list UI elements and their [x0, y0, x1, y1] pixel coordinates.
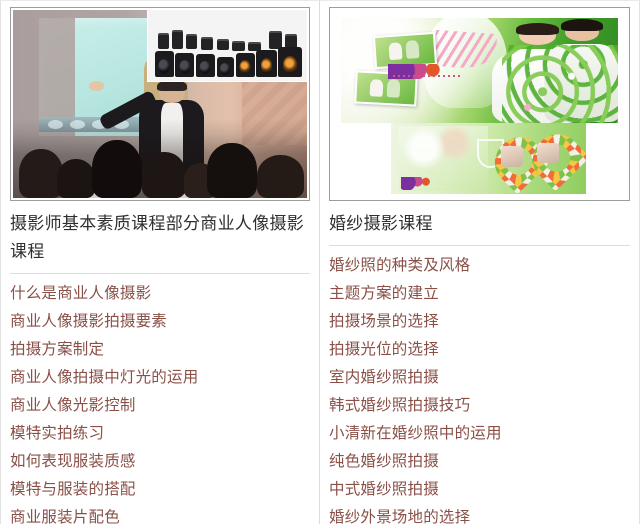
course-thumbnail-frame-left[interactable] [10, 7, 310, 201]
camera-gear-inset-photo [147, 10, 307, 82]
student-head [207, 143, 257, 198]
lesson-item[interactable]: 商业服装片配色 [10, 504, 310, 524]
lesson-item[interactable]: 商业人像拍摄中灯光的运用 [10, 364, 310, 392]
inset-photo-content [375, 34, 435, 67]
camera-lens [201, 37, 214, 50]
camera-body [155, 51, 174, 77]
course-card-board: 摄影师基本素质课程部分商业人像摄影课程 什么是商业人像摄影 商业人像摄影拍摄要素… [0, 0, 640, 524]
lesson-item[interactable]: 婚纱外景场地的选择 [329, 504, 630, 524]
lesson-item[interactable]: 婚纱照的种类及风格 [329, 252, 630, 280]
student-audience [13, 119, 307, 198]
course-thumbnail-frame-right[interactable] [329, 7, 630, 201]
studio-logo-watermark-small [401, 177, 444, 190]
collage-canvas [332, 10, 627, 198]
camera-body [256, 50, 277, 77]
lesson-item[interactable]: 纯色婚纱照拍摄 [329, 448, 630, 476]
camera-lens [186, 34, 197, 48]
heart-inset-photo [537, 143, 559, 164]
camera-lens [172, 30, 183, 49]
lesson-list-wedding-photography: 婚纱照的种类及风格 主题方案的建立 拍摄场景的选择 拍摄光位的选择 室内婚纱照拍… [329, 246, 630, 524]
lesson-item[interactable]: 商业人像摄影拍摄要素 [10, 308, 310, 336]
student-head [57, 159, 95, 198]
inset-groom [406, 41, 420, 60]
camera-body [278, 47, 302, 77]
instructor-hand [89, 81, 104, 90]
camera-lens [232, 41, 245, 51]
studio-logo-watermark [388, 64, 471, 79]
wedding-photo-collage [332, 10, 627, 198]
heart-inset-photo [501, 146, 523, 167]
wedding-bottom-panel [391, 123, 586, 194]
lesson-item[interactable]: 小清新在婚纱照中的运用 [329, 420, 630, 448]
lesson-item[interactable]: 什么是商业人像摄影 [10, 280, 310, 308]
camera-body [196, 54, 215, 77]
flower-foliage [502, 45, 618, 123]
groom-hair [561, 19, 602, 32]
camera-body [217, 57, 234, 77]
camera-body [236, 53, 255, 77]
lesson-item[interactable]: 如何表现服装质感 [10, 448, 310, 476]
camera-lens [269, 31, 282, 48]
lesson-item[interactable]: 韩式婚纱照拍摄技巧 [329, 392, 630, 420]
lesson-item[interactable]: 拍摄场景的选择 [329, 308, 630, 336]
inset-bride [388, 43, 402, 60]
lesson-item[interactable]: 商业人像光影控制 [10, 392, 310, 420]
lesson-item[interactable]: 模特实拍练习 [10, 420, 310, 448]
lesson-item[interactable]: 拍摄光位的选择 [329, 336, 630, 364]
course-title[interactable]: 摄影师基本素质课程部分商业人像摄影课程 [10, 210, 310, 274]
lesson-item[interactable]: 中式婚纱照拍摄 [329, 476, 630, 504]
course-card-commercial-portrait[interactable]: 摄影师基本素质课程部分商业人像摄影课程 什么是商业人像摄影 商业人像摄影拍摄要素… [0, 0, 320, 524]
student-head [142, 152, 186, 198]
course-title[interactable]: 婚纱摄影课程 [329, 210, 630, 246]
heart-photo-frames [492, 134, 578, 181]
lesson-item[interactable]: 主题方案的建立 [329, 280, 630, 308]
camera-lens [217, 39, 230, 50]
wedding-top-panel [341, 18, 618, 123]
student-head [257, 155, 304, 198]
student-head [92, 140, 142, 198]
camera-lens [158, 33, 169, 49]
lesson-list-commercial-portrait: 什么是商业人像摄影 商业人像摄影拍摄要素 拍摄方案制定 商业人像拍摄中灯光的运用… [10, 274, 310, 524]
lesson-item[interactable]: 室内婚纱照拍摄 [329, 364, 630, 392]
lesson-item[interactable]: 模特与服装的搭配 [10, 476, 310, 504]
course-card-wedding-photography[interactable]: 婚纱摄影课程 婚纱照的种类及风格 主题方案的建立 拍摄场景的选择 拍摄光位的选择… [320, 0, 640, 524]
inset-bride [369, 80, 383, 97]
photography-classroom-photo [13, 10, 307, 198]
lesson-item[interactable]: 拍摄方案制定 [10, 336, 310, 364]
camera-body [175, 53, 194, 77]
inset-groom [387, 80, 401, 98]
